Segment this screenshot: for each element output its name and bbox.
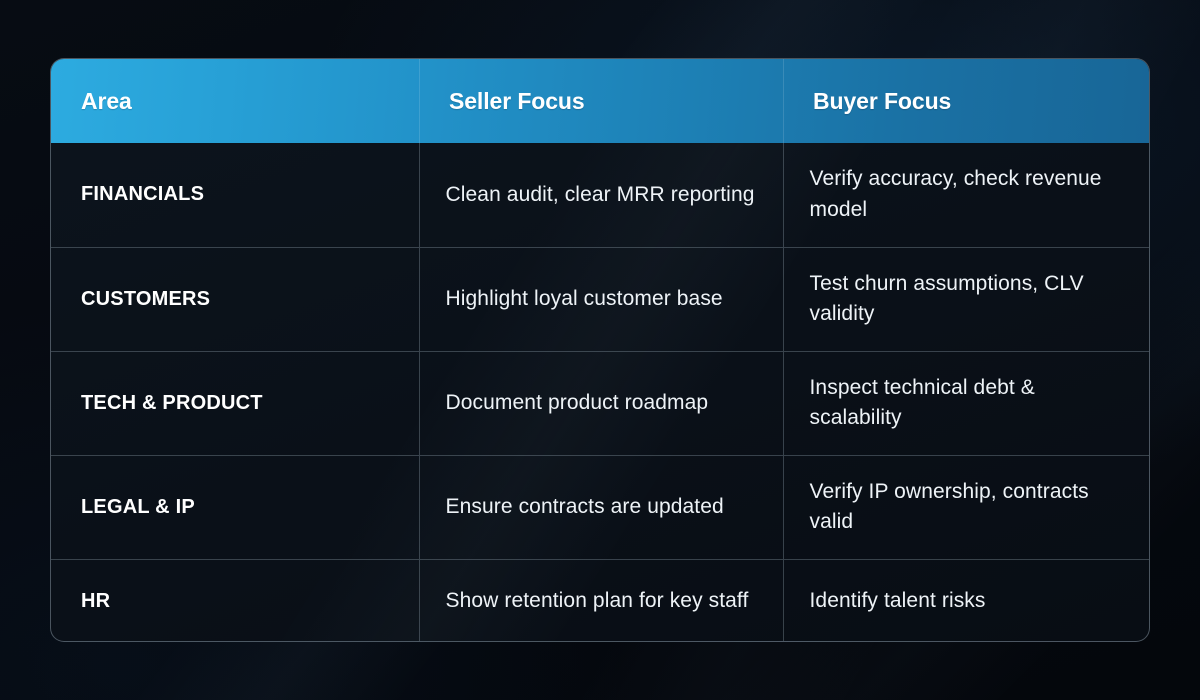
column-header-area: Area: [51, 59, 419, 143]
table-row: FINANCIALS Clean audit, clear MRR report…: [51, 143, 1150, 247]
table-header-row: Area Seller Focus Buyer Focus: [51, 59, 1150, 143]
cell-buyer-focus-text: Verify IP ownership, contracts valid: [810, 477, 1124, 538]
cell-area: TECH & PRODUCT: [51, 351, 419, 455]
cell-seller-focus-text: Clean audit, clear MRR reporting: [446, 180, 755, 210]
cell-buyer-focus: Identify talent risks: [783, 559, 1150, 642]
cell-buyer-focus-text: Verify accuracy, check revenue model: [810, 164, 1124, 225]
cell-buyer-focus-text: Test churn assumptions, CLV validity: [810, 269, 1124, 330]
cell-buyer-focus: Inspect technical debt & scalability: [783, 351, 1150, 455]
table-body: FINANCIALS Clean audit, clear MRR report…: [51, 143, 1150, 642]
table-row: CUSTOMERS Highlight loyal customer base …: [51, 247, 1150, 351]
cell-seller-focus-text: Ensure contracts are updated: [446, 492, 755, 522]
cell-seller-focus: Clean audit, clear MRR reporting: [419, 143, 783, 247]
column-header-buyer-focus: Buyer Focus: [783, 59, 1150, 143]
cell-seller-focus: Show retention plan for key staff: [419, 559, 783, 642]
cell-buyer-focus: Test churn assumptions, CLV validity: [783, 247, 1150, 351]
cell-seller-focus-text: Highlight loyal customer base: [446, 284, 755, 314]
cell-area: HR: [51, 559, 419, 642]
cell-area: CUSTOMERS: [51, 247, 419, 351]
table-row: TECH & PRODUCT Document product roadmap …: [51, 351, 1150, 455]
due-diligence-matrix-table: Area Seller Focus Buyer Focus FINANCIALS…: [50, 58, 1150, 642]
cell-buyer-focus: Verify IP ownership, contracts valid: [783, 455, 1150, 559]
cell-buyer-focus-text: Inspect technical debt & scalability: [810, 373, 1124, 434]
comparison-table: Area Seller Focus Buyer Focus FINANCIALS…: [51, 59, 1150, 642]
table-row: LEGAL & IP Ensure contracts are updated …: [51, 455, 1150, 559]
cell-seller-focus: Highlight loyal customer base: [419, 247, 783, 351]
cell-seller-focus: Ensure contracts are updated: [419, 455, 783, 559]
column-header-buyer-focus-label: Buyer Focus: [813, 88, 951, 114]
column-header-seller-focus: Seller Focus: [419, 59, 783, 143]
cell-seller-focus: Document product roadmap: [419, 351, 783, 455]
column-header-seller-focus-label: Seller Focus: [449, 88, 585, 114]
cell-area: FINANCIALS: [51, 143, 419, 247]
cell-seller-focus-text: Document product roadmap: [446, 388, 755, 418]
cell-buyer-focus-text: Identify talent risks: [810, 586, 1124, 616]
table-header: Area Seller Focus Buyer Focus: [51, 59, 1150, 143]
table-row: HR Show retention plan for key staff Ide…: [51, 559, 1150, 642]
cell-buyer-focus: Verify accuracy, check revenue model: [783, 143, 1150, 247]
column-header-area-label: Area: [81, 88, 132, 114]
cell-area: LEGAL & IP: [51, 455, 419, 559]
cell-seller-focus-text: Show retention plan for key staff: [446, 586, 755, 616]
